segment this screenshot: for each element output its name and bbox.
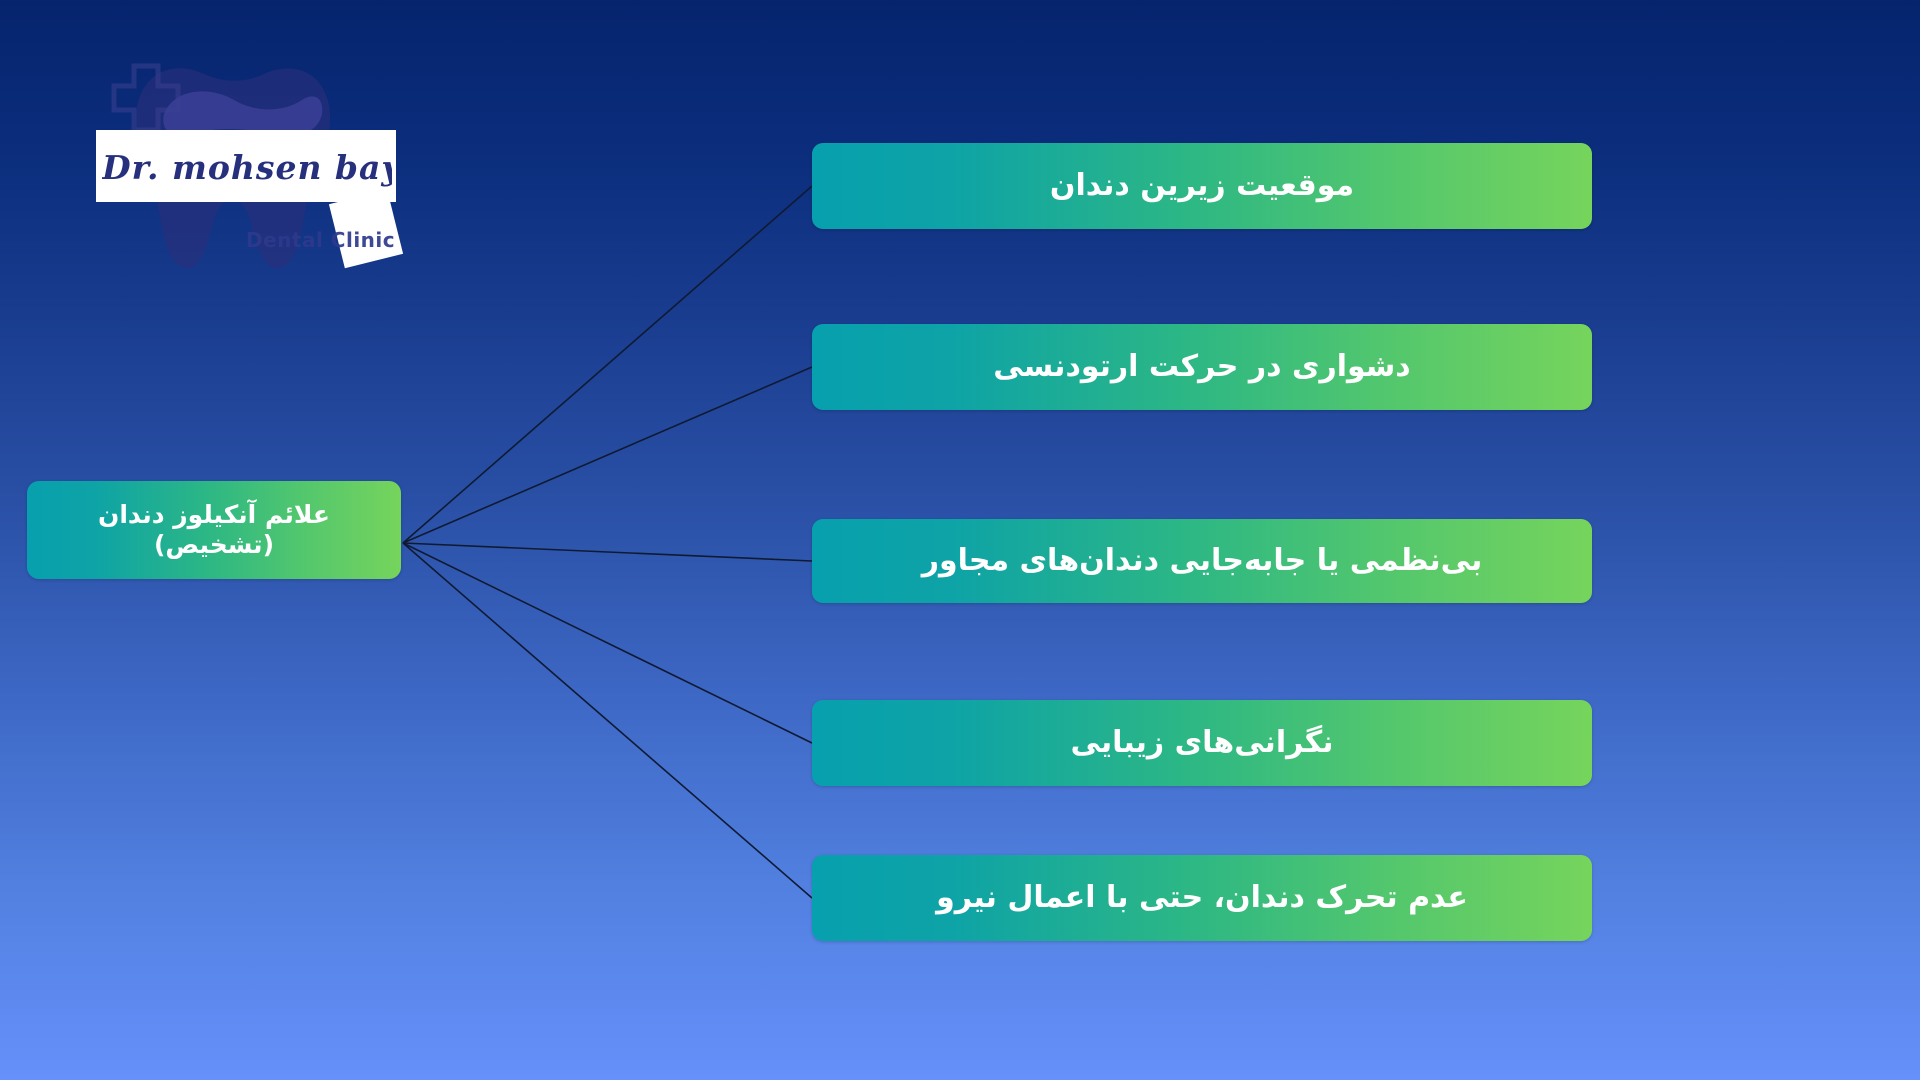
branch-node-3[interactable]: بی‌نظمی یا جابه‌جایی دندان‌های مجاور [812, 519, 1592, 603]
root-node-line2: (تشخیص) [154, 530, 274, 559]
branch-node-4[interactable]: نگرانی‌های زیبایی [812, 700, 1592, 786]
slide-canvas: Dr. mohsen bayat Dental Clinic علائم آنک… [0, 0, 1920, 1080]
branch-node-3-label: بی‌نظمی یا جابه‌جایی دندان‌های مجاور [922, 543, 1483, 580]
root-node[interactable]: علائم آنکیلوز دندان (تشخیص) [27, 481, 401, 579]
connector-line-4 [403, 543, 812, 743]
branch-node-5-label: عدم تحرک دندان، حتی با اعمال نیرو [936, 880, 1468, 917]
connector-line-2 [403, 367, 812, 543]
root-node-label: علائم آنکیلوز دندان (تشخیص) [98, 500, 330, 561]
connector-line-1 [403, 186, 812, 543]
branch-node-5[interactable]: عدم تحرک دندان، حتی با اعمال نیرو [812, 855, 1592, 941]
connector-line-5 [403, 543, 812, 898]
root-node-line1: علائم آنکیلوز دندان [98, 500, 330, 529]
branch-node-1[interactable]: موقعیت زیرین دندان [812, 143, 1592, 229]
branch-node-2-label: دشواری در حرکت ارتودنسی [993, 349, 1410, 386]
branch-node-4-label: نگرانی‌های زیبایی [1071, 725, 1334, 762]
branch-node-2[interactable]: دشواری در حرکت ارتودنسی [812, 324, 1592, 410]
connector-line-3 [403, 543, 812, 561]
branch-node-1-label: موقعیت زیرین دندان [1050, 168, 1354, 205]
